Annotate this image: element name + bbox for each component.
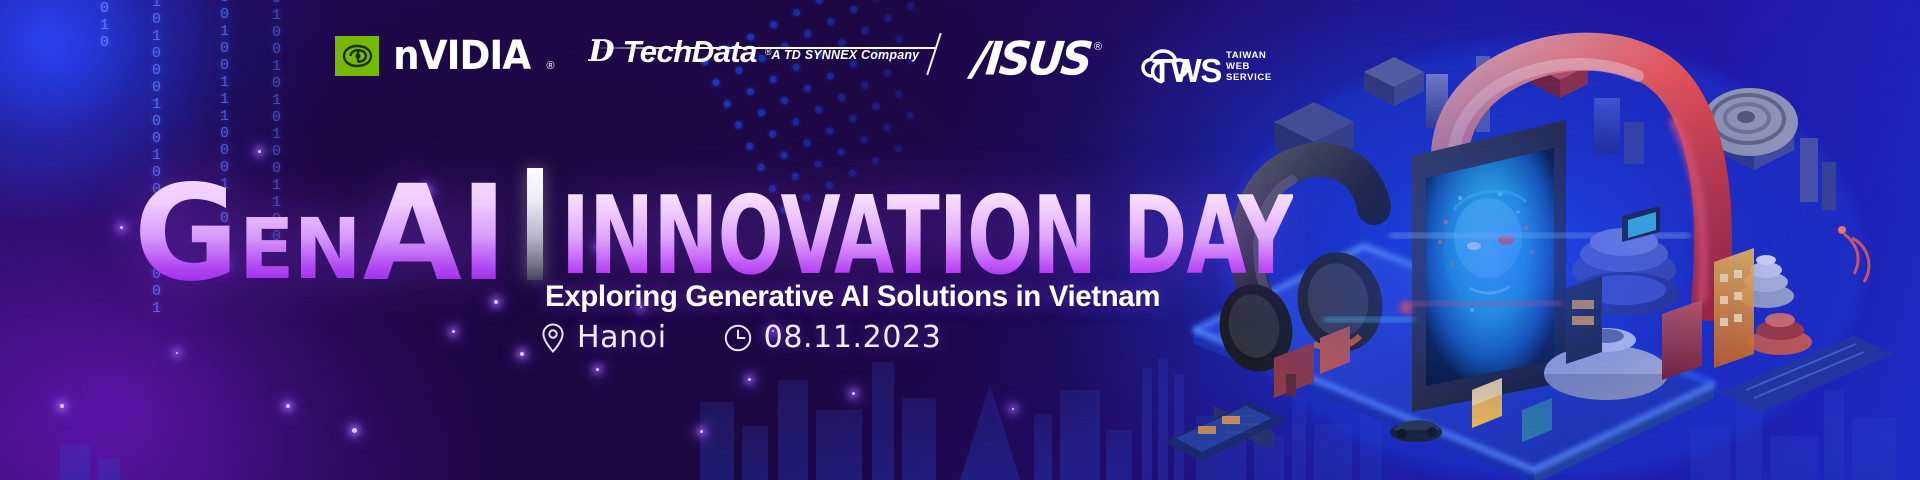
techdata-d-mark: 𝑫 xyxy=(588,37,614,67)
genai-title: G EN AI xyxy=(134,180,506,288)
grid-dot xyxy=(905,111,914,120)
event-date: 08.11.2023 xyxy=(723,320,942,355)
partner-logo-bar: nVIDIA ® 𝑫 TechData ® A TD SYNNEX Compan… xyxy=(335,36,1272,86)
grid-dot xyxy=(836,147,845,156)
sparkle xyxy=(700,430,703,433)
grid-dot xyxy=(894,144,903,153)
nvidia-wordmark: nVIDIA xyxy=(393,37,530,75)
grid-dot xyxy=(871,102,880,111)
grid-dot xyxy=(882,123,891,132)
clock-icon xyxy=(723,323,753,353)
sparkle xyxy=(120,226,123,229)
grid-dot xyxy=(859,135,868,144)
techdata-wordmark-row: 𝑫 TechData ® xyxy=(588,36,771,68)
sparkle xyxy=(60,404,64,408)
grid-dot xyxy=(814,105,823,114)
grid-dot xyxy=(883,14,892,23)
grid-dot xyxy=(860,26,869,35)
grid-dot xyxy=(815,0,824,5)
grid-dot xyxy=(768,129,777,138)
techdata-underline xyxy=(590,47,935,49)
headline-row: G EN AI INNOVATION DAY xyxy=(128,168,1476,288)
grid-dot xyxy=(894,89,903,98)
tws-cloud-mark: TWS xyxy=(1138,42,1224,86)
asus-registered-mark: ® xyxy=(1094,41,1102,53)
nvidia-eye-icon xyxy=(335,36,379,76)
grid-dot xyxy=(757,108,766,117)
tws-subtitle-line-2: WEB xyxy=(1226,61,1272,72)
tws-logo: TWS TAIWAN WEB SERVICE xyxy=(1138,42,1272,86)
asus-wordmark: /ISUS xyxy=(971,38,1092,82)
nvidia-registered-mark: ® xyxy=(546,60,554,72)
genai-g: G xyxy=(134,180,237,288)
techdata-wordmark: TechData xyxy=(622,36,756,68)
genai-innovation-day-banner: 00010 011010001001001110001 0 1001001110… xyxy=(0,0,1920,480)
event-subtitle: Exploring Generative AI Solutions in Vie… xyxy=(545,280,1160,314)
tws-subtitle: TAIWAN WEB SERVICE xyxy=(1226,50,1272,83)
location-label: Hanoi xyxy=(577,320,667,355)
grid-dot xyxy=(780,96,789,105)
grid-dot xyxy=(802,138,811,147)
grid-dot xyxy=(906,1,915,10)
sparkle xyxy=(520,352,524,356)
tws-subtitle-line-1: TAIWAN xyxy=(1226,50,1272,61)
grid-dot xyxy=(779,150,788,159)
nvidia-logo: nVIDIA ® xyxy=(335,36,554,76)
genai-ai: AI xyxy=(363,180,506,288)
grid-dot xyxy=(872,0,881,2)
grid-dot xyxy=(825,126,834,135)
techdata-logo: 𝑫 TechData ® A TD SYNNEX Company xyxy=(588,36,933,68)
sparkle xyxy=(852,392,855,395)
grid-dot xyxy=(791,117,800,126)
grid-dot xyxy=(871,156,880,165)
event-location: Hanoi xyxy=(540,320,667,355)
grid-dot xyxy=(826,17,835,26)
location-pin-icon xyxy=(540,322,566,354)
grid-dot xyxy=(769,20,778,29)
date-label: 08.11.2023 xyxy=(764,320,942,355)
sparkle xyxy=(596,368,599,371)
grid-dot xyxy=(792,8,801,17)
sparkle xyxy=(352,428,357,433)
sparkle xyxy=(748,378,751,381)
sparkle xyxy=(258,150,261,153)
techdata-tagline: A TD SYNNEX Company xyxy=(772,48,920,62)
asus-logo: /ISUS ® xyxy=(973,39,1102,81)
sparkle xyxy=(452,330,455,333)
grid-dot xyxy=(837,93,846,102)
tws-subtitle-line-3: SERVICE xyxy=(1226,72,1272,83)
event-meta-row: Hanoi 08.11.2023 xyxy=(540,320,941,355)
tws-wordmark: TWS xyxy=(1152,54,1221,87)
innovation-day-title: INNOVATION DAY xyxy=(561,191,1293,288)
nvidia-eye-glyph xyxy=(340,41,374,71)
city-skyline-silhouette xyxy=(0,340,1920,480)
grid-dot xyxy=(745,87,754,96)
sparkle xyxy=(176,352,178,354)
grid-dot xyxy=(848,114,857,123)
grid-dot xyxy=(849,5,858,14)
genai-en: EN xyxy=(237,215,363,288)
title-divider-bar xyxy=(527,168,543,280)
sparkle xyxy=(286,404,290,408)
techdata-slash-rule xyxy=(927,33,942,75)
sparkle xyxy=(1012,408,1014,410)
